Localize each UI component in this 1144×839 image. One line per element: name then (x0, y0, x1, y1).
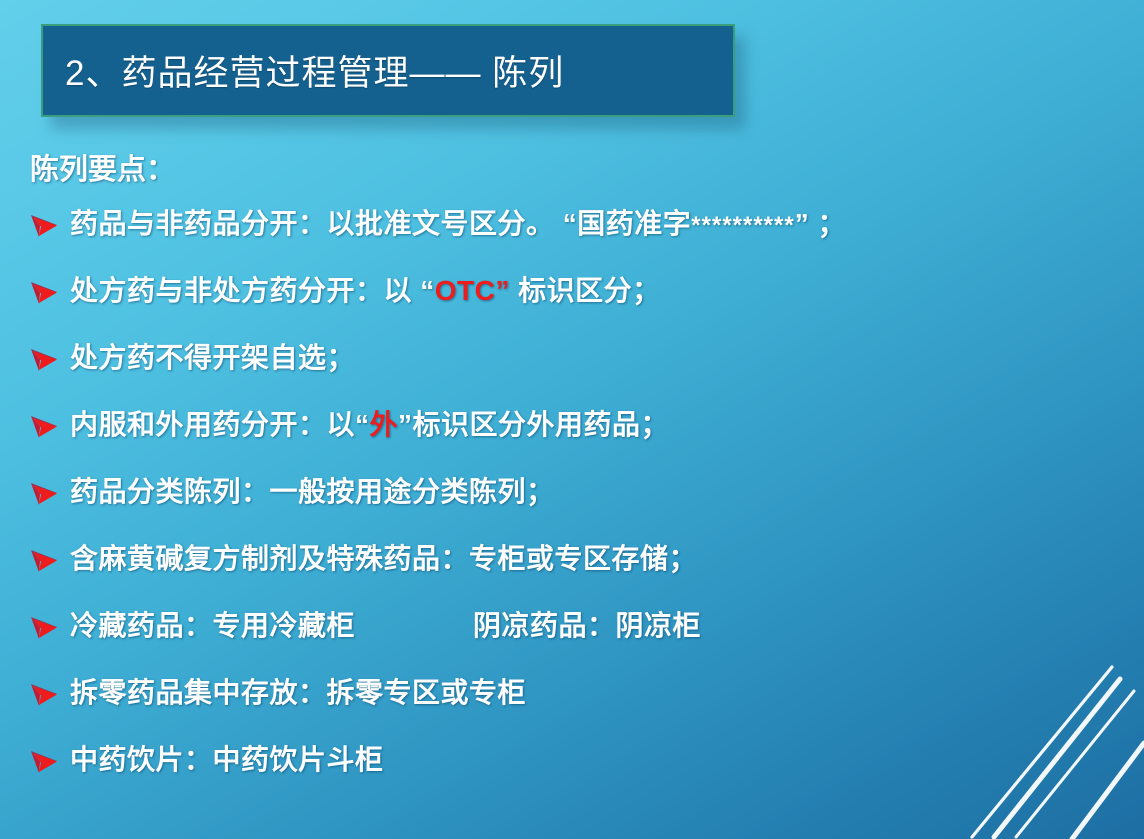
text-segment: OTC (435, 275, 496, 306)
list-item-text: 冷藏药品：专用冷藏柜阴凉药品：阴凉柜 (70, 595, 701, 657)
list-item-text: 药品分类陈列：一般按用途分类陈列； (70, 461, 555, 523)
arrow-bullet-icon (30, 213, 60, 241)
text-segment: 阴凉药品：阴凉柜 (473, 610, 701, 641)
text-segment: 拆零药品集中存放：拆零专区或专柜 (70, 677, 526, 708)
list-item-text: 处方药与非处方药分开：以 “OTC” 标识区分； (70, 260, 661, 322)
arrow-bullet-icon (30, 481, 60, 509)
arrow-bullet-icon (30, 347, 60, 375)
list-item-text: 药品与非药品分开：以批准文号区分。 “国药准字**********” ； (70, 193, 846, 257)
slide-body: 陈列要点： 药品与非药品分开：以批准文号区分。 “国药准字**********”… (0, 147, 1144, 796)
list-item: 拆零药品集中存放：拆零专区或专柜 (0, 662, 1144, 729)
list-item: 中药饮片：中药饮片斗柜 (0, 729, 1144, 796)
text-segment: 处方药与非处方药分开：以 “ (70, 275, 435, 306)
text-segment: ” (495, 275, 510, 306)
section-heading: 陈列要点： (0, 147, 1144, 193)
bullet-list: 药品与非药品分开：以批准文号区分。 “国药准字**********” ；处方药与… (0, 193, 1144, 796)
list-item: 药品与非药品分开：以批准文号区分。 “国药准字**********” ； (0, 193, 1144, 260)
list-item: 含麻黄碱复方制剂及特殊药品：专柜或专区存储； (0, 528, 1144, 595)
arrow-bullet-icon (30, 615, 60, 643)
list-item: 冷藏药品：专用冷藏柜阴凉药品：阴凉柜 (0, 595, 1144, 662)
bullet-marker (30, 461, 70, 509)
text-segment: ********** (691, 212, 794, 239)
bullet-marker (30, 662, 70, 710)
bullet-marker (30, 528, 70, 576)
bullet-marker (30, 729, 70, 777)
text-segment: 处方药不得开架自选； (70, 342, 355, 373)
text-segment: 冷藏药品：专用冷藏柜 (70, 610, 355, 641)
list-item-text: 中药饮片：中药饮片斗柜 (70, 729, 384, 791)
list-item: 药品分类陈列：一般按用途分类陈列； (0, 461, 1144, 528)
page-title: 2、药品经营过程管理—— 陈列 (43, 45, 564, 96)
arrow-bullet-icon (30, 414, 60, 442)
text-segment: ”标识区分外用药品； (398, 409, 669, 440)
list-item-text: 拆零药品集中存放：拆零专区或专柜 (70, 662, 526, 724)
text-segment: 药品与非药品分开：以批准文号区分。 “国药准字 (70, 208, 691, 239)
list-item: 处方药不得开架自选； (0, 327, 1144, 394)
title-banner: 2、药品经营过程管理—— 陈列 (41, 24, 735, 117)
list-item-text: 处方药不得开架自选； (70, 327, 355, 389)
text-segment: 含麻黄碱复方制剂及特殊药品：专柜或专区存储； (70, 543, 697, 574)
text-segment: 药品分类陈列：一般按用途分类陈列； (70, 476, 555, 507)
bullet-marker (30, 327, 70, 375)
text-segment: 标识区分； (510, 275, 661, 306)
arrow-bullet-icon (30, 749, 60, 777)
bullet-marker (30, 193, 70, 241)
text-segment: 外 (370, 409, 399, 440)
bullet-marker (30, 394, 70, 442)
bullet-marker (30, 260, 70, 308)
arrow-bullet-icon (30, 280, 60, 308)
text-segment: ” ； (795, 208, 846, 239)
bullet-marker (30, 595, 70, 643)
list-item: 处方药与非处方药分开：以 “OTC” 标识区分； (0, 260, 1144, 327)
text-segment: 中药饮片：中药饮片斗柜 (70, 744, 384, 775)
arrow-bullet-icon (30, 548, 60, 576)
slide-canvas: 2、药品经营过程管理—— 陈列 陈列要点： 药品与非药品分开：以批准文号区分。 … (0, 0, 1144, 839)
list-item: 内服和外用药分开：以“外”标识区分外用药品； (0, 394, 1144, 461)
text-segment: 内服和外用药分开：以“ (70, 409, 370, 440)
title-banner-box: 2、药品经营过程管理—— 陈列 (41, 24, 735, 117)
arrow-bullet-icon (30, 682, 60, 710)
list-item-text: 内服和外用药分开：以“外”标识区分外用药品； (70, 394, 669, 456)
list-item-text: 含麻黄碱复方制剂及特殊药品：专柜或专区存储； (70, 528, 697, 590)
